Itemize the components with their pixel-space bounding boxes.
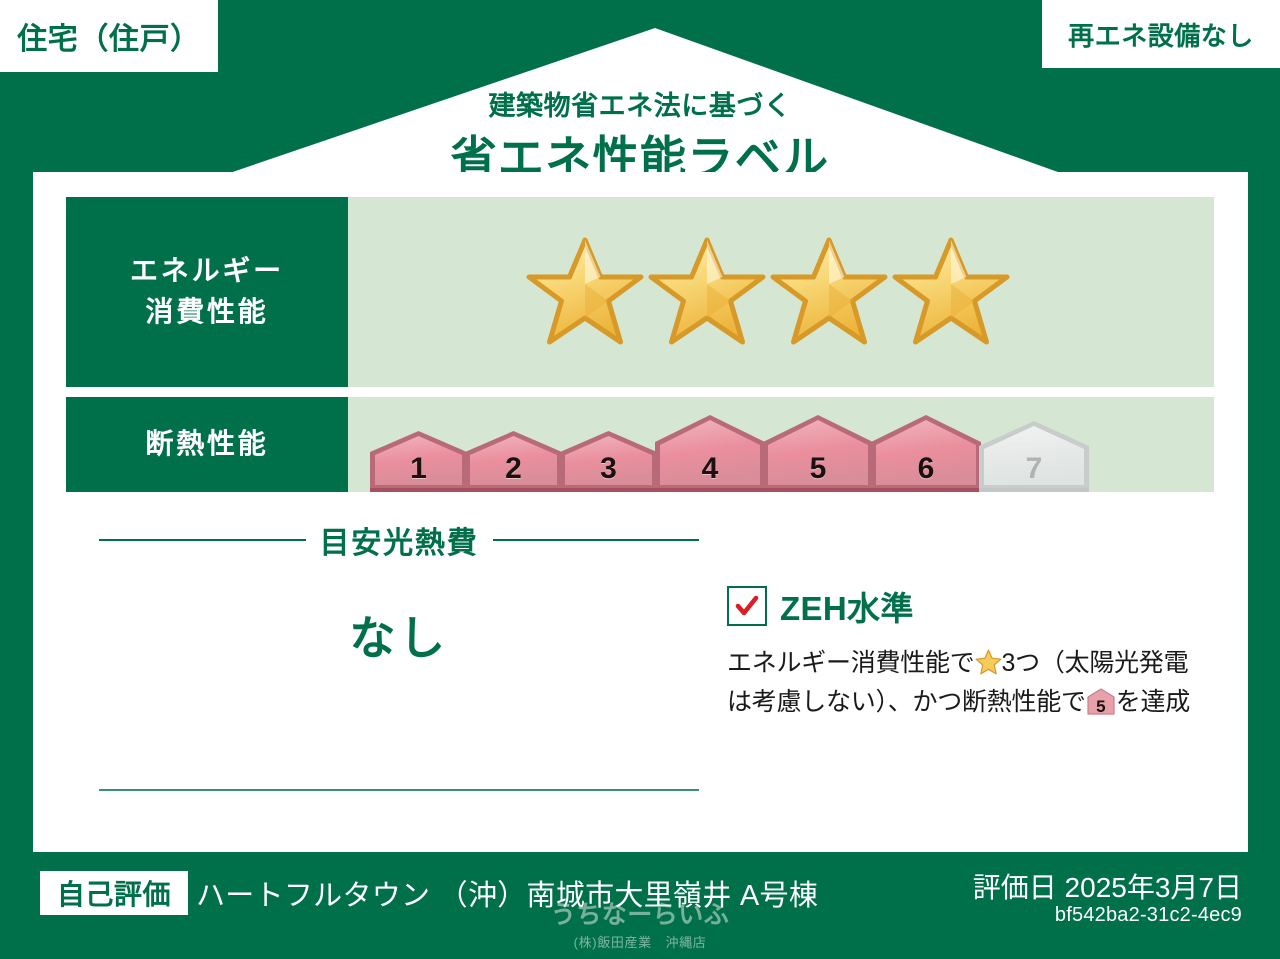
zeh-heading-row: ZEH水準 (727, 582, 1247, 630)
energy-label-line2: 消費性能 (145, 292, 268, 333)
house-number: 5 (763, 452, 873, 486)
house-number: 4 (655, 452, 765, 486)
house-number: 3 (560, 452, 657, 486)
star-icon (892, 236, 1010, 348)
zeh-desc-part2: は考慮しない）、かつ断熱性能で (727, 688, 1086, 716)
zeh-title: ZEH水準 (780, 582, 914, 630)
property-name: ハートフルタウン （沖）南城市大里嶺井 A号棟 (196, 872, 818, 914)
insulation-performance-label: 断熱性能 (66, 397, 348, 492)
insulation-level-house-2: 2 (465, 430, 562, 492)
label-canvas: 住宅（住戸） 再エネ設備なし 建築物省エネ法に基づく 省エネ性能ラベル エネルギ… (0, 0, 1280, 959)
utility-cost-bottom-rule (99, 789, 699, 791)
zeh-description: エネルギー消費性能で 3つ（太陽光発電 は考慮しない）、かつ断熱性能で 5を達成 (727, 644, 1247, 722)
energy-performance-label: エネルギー 消費性能 (66, 197, 348, 387)
star-icon (648, 236, 766, 348)
energy-label-line1: エネルギー (130, 251, 284, 292)
utility-cost-heading: 目安光熱費 (99, 518, 699, 562)
evaluation-date: 評価日 2025年3月7日 (973, 866, 1242, 906)
insulation-level-house-5: 5 (763, 414, 873, 492)
badge-building-type: 住宅（住戸） (0, 0, 218, 72)
house-number: 1 (370, 452, 467, 486)
label-body-panel: エネルギー 消費性能 断熱性能 1234567 目安光熱費 なし (33, 172, 1248, 852)
zeh-desc-star-count: 3つ（太陽光発電 (1002, 649, 1189, 677)
insulation-level-house-3: 3 (560, 430, 657, 492)
evaluation-id: bf542ba2-31c2-4ec9 (1055, 904, 1242, 927)
house-number: 6 (871, 452, 981, 486)
zeh-standard-block: ZEH水準 エネルギー消費性能で 3つ（太陽光発電 は考慮しない）、かつ断熱性能… (727, 582, 1247, 722)
house-number: 7 (979, 452, 1089, 486)
insulation-level-house-1: 1 (370, 430, 467, 492)
insulation-level-house-4: 4 (655, 414, 765, 492)
heading-rule-left (99, 539, 306, 541)
star-icon (526, 236, 644, 348)
insulation-level-house-7: 7 (979, 420, 1089, 492)
utility-cost-heading-text: 目安光熱費 (320, 518, 479, 562)
energy-star-rating (348, 197, 1214, 387)
inline-house-icon: 5 (1086, 686, 1116, 716)
self-evaluation-badge: 自己評価 (40, 871, 188, 915)
zeh-desc-part1: エネルギー消費性能で (727, 649, 975, 677)
label-footer: 自己評価 ハートフルタウン （沖）南城市大里嶺井 A号棟 評価日 2025年3月… (0, 852, 1280, 959)
inline-house-number: 5 (1086, 698, 1116, 715)
house-number: 2 (465, 452, 562, 486)
utility-cost-value: なし (99, 602, 699, 668)
heading-rule-right (493, 539, 700, 541)
badge-renewable-status: 再エネ設備なし (1042, 0, 1280, 68)
check-icon (734, 593, 760, 619)
star-icon (770, 236, 888, 348)
label-subtitle: 建築物省エネ法に基づく (0, 84, 1280, 123)
insulation-performance-row: 断熱性能 1234567 (66, 397, 1214, 492)
inline-star-icon (975, 648, 1002, 674)
insulation-level-house-6: 6 (871, 414, 981, 492)
insulation-level-scale: 1234567 (348, 397, 1214, 492)
energy-performance-row: エネルギー 消費性能 (66, 197, 1214, 387)
zeh-checkbox[interactable] (727, 586, 767, 626)
insulation-label-text: 断熱性能 (145, 424, 268, 465)
zeh-desc-part3: を達成 (1116, 688, 1190, 716)
